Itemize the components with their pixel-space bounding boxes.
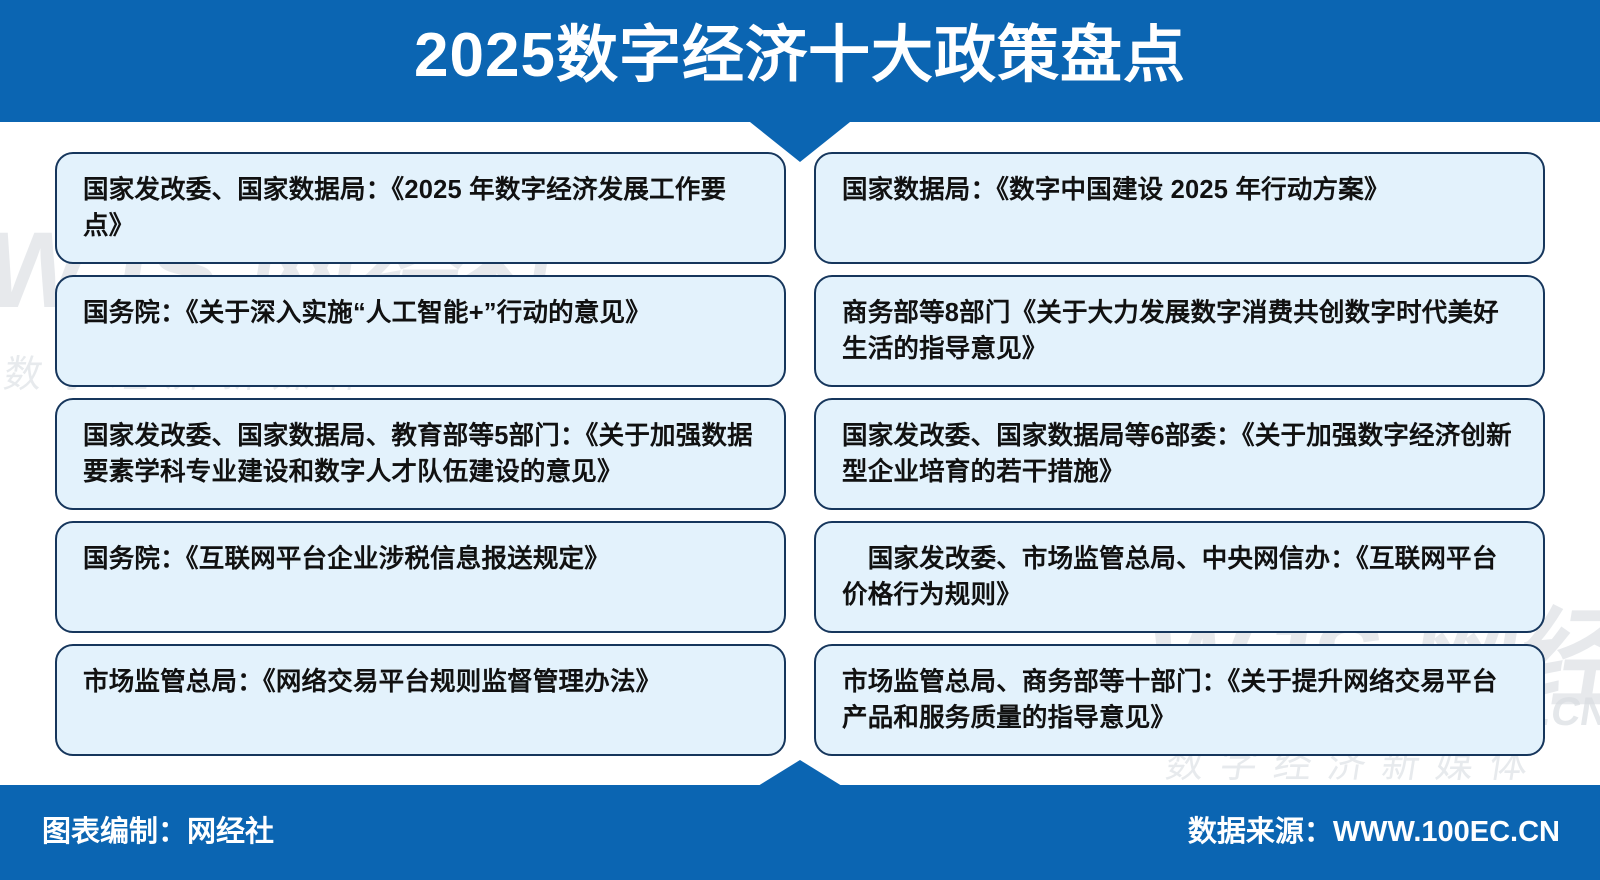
header-banner: 2025数字经济十大政策盘点 <box>0 0 1600 122</box>
policy-card[interactable]: 国家发改委、国家数据局、教育部等5部门：《关于加强数据要素学科专业建设和数字人才… <box>55 398 786 510</box>
header-arrow-down-icon <box>750 122 850 162</box>
policy-card[interactable]: 国务院：《互联网平台企业涉税信息报送规定》 <box>55 521 786 633</box>
page-title: 2025数字经济十大政策盘点 <box>0 0 1600 112</box>
policy-card-text: 国家数据局：《数字中国建设 2025 年行动方案》 <box>842 172 1519 208</box>
policy-card-text: 国家发改委、市场监管总局、中央网信办：《互联网平台价格行为规则》 <box>842 541 1519 613</box>
policy-card-text: 国务院：《关于深入实施“人工智能+”行动的意见》 <box>83 295 760 331</box>
policy-card[interactable]: 国务院：《关于深入实施“人工智能+”行动的意见》 <box>55 275 786 387</box>
policy-card-text: 国家发改委、国家数据局、教育部等5部门：《关于加强数据要素学科专业建设和数字人才… <box>83 418 760 490</box>
policy-card-text: 市场监管总局：《网络交易平台规则监督管理办法》 <box>83 664 760 700</box>
policy-card[interactable]: 市场监管总局、商务部等十部门：《关于提升网络交易平台产品和服务质量的指导意见》 <box>814 644 1545 756</box>
infographic-poster: WJS 网经社 WWW.100EC.CN 数字经济新媒体 WJS 网经社 WWW… <box>0 0 1600 880</box>
policy-card[interactable]: 市场监管总局：《网络交易平台规则监督管理办法》 <box>55 644 786 756</box>
policy-card[interactable]: 国家数据局：《数字中国建设 2025 年行动方案》 <box>814 152 1545 264</box>
footer-source: 数据来源：WWW.100EC.CN <box>1188 785 1560 880</box>
policy-card[interactable]: 国家发改委、市场监管总局、中央网信办：《互联网平台价格行为规则》 <box>814 521 1545 633</box>
footer-credit: 图表编制：网经社 <box>42 785 274 880</box>
policy-card[interactable]: 国家发改委、国家数据局：《2025 年数字经济发展工作要点》 <box>55 152 786 264</box>
policy-card-text: 国家发改委、国家数据局等6部委：《关于加强数字经济创新型企业培育的若干措施》 <box>842 418 1519 490</box>
policy-card[interactable]: 商务部等8部门《关于大力发展数字消费共创数字时代美好生活的指导意见》 <box>814 275 1545 387</box>
policy-card-text: 国家发改委、国家数据局：《2025 年数字经济发展工作要点》 <box>83 172 760 244</box>
policy-card-grid: 国家发改委、国家数据局：《2025 年数字经济发展工作要点》 国家数据局：《数字… <box>55 152 1545 758</box>
policy-card-text: 国务院：《互联网平台企业涉税信息报送规定》 <box>83 541 760 577</box>
policy-card[interactable]: 国家发改委、国家数据局等6部委：《关于加强数字经济创新型企业培育的若干措施》 <box>814 398 1545 510</box>
footer-arrow-up-icon <box>758 760 842 786</box>
footer-banner: 图表编制：网经社 数据来源：WWW.100EC.CN <box>0 785 1600 880</box>
policy-card-text: 商务部等8部门《关于大力发展数字消费共创数字时代美好生活的指导意见》 <box>842 295 1519 367</box>
policy-card-text: 市场监管总局、商务部等十部门：《关于提升网络交易平台产品和服务质量的指导意见》 <box>842 664 1519 736</box>
